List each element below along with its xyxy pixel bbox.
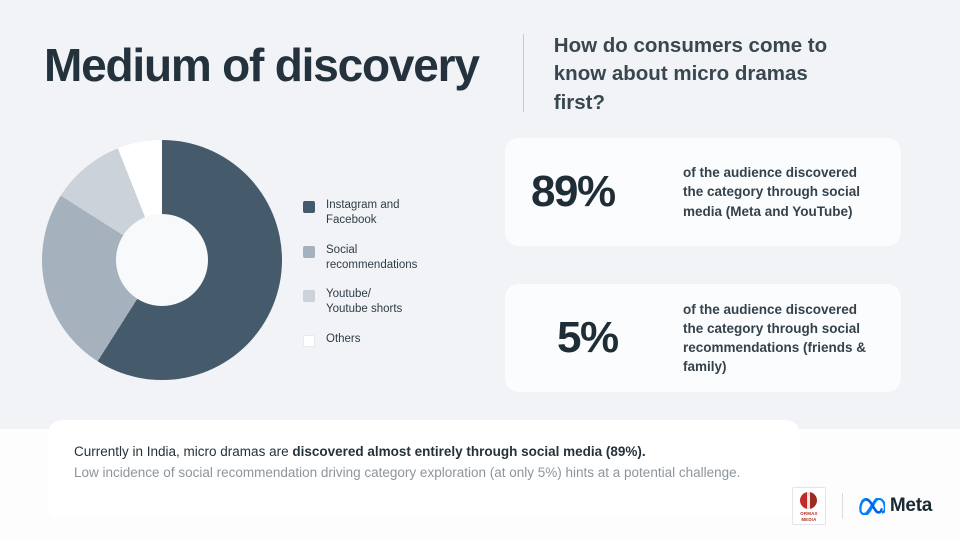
header: Medium of discovery How do consumers com… xyxy=(44,28,920,120)
legend-item-label: Social recommendations xyxy=(326,243,417,274)
legend-swatch-icon xyxy=(303,335,315,347)
legend-item-social-recommendations: Social recommendations xyxy=(303,243,463,274)
stat-card-social-media: 89% of the audience discovered the categ… xyxy=(505,138,901,246)
logo-divider xyxy=(842,493,843,519)
legend-item-label: Others xyxy=(326,332,361,347)
callout-body: Low incidence of social recommendation d… xyxy=(74,463,774,484)
callout-headline-prefix: Currently in India, micro dramas are xyxy=(74,444,292,459)
meta-logo: Meta xyxy=(859,495,932,517)
legend-item-others: Others xyxy=(303,332,463,347)
legend-swatch-icon xyxy=(303,290,315,302)
infographic-slide: Medium of discovery How do consumers com… xyxy=(0,0,960,539)
legend-item-label: Youtube/ Youtube shorts xyxy=(326,287,402,318)
stat-value: 5% xyxy=(531,316,683,360)
stat-description: of the audience discovered the category … xyxy=(683,163,875,220)
insight-callout: Currently in India, micro dramas are dis… xyxy=(48,420,800,518)
legend-swatch-icon xyxy=(303,246,315,258)
callout-headline: Currently in India, micro dramas are dis… xyxy=(74,442,774,463)
discovery-donut-chart xyxy=(42,140,282,380)
stat-description: of the audience discovered the category … xyxy=(683,300,875,377)
legend-swatch-icon xyxy=(303,201,315,213)
legend-item-label: Instagram and Facebook xyxy=(326,198,400,229)
chart-legend: Instagram and Facebook Social recommenda… xyxy=(303,198,463,361)
logo-bar: ORMAXMEDIA Meta xyxy=(792,487,932,525)
legend-item-instagram-facebook: Instagram and Facebook xyxy=(303,198,463,229)
callout-headline-bold: discovered almost entirely through socia… xyxy=(292,444,645,459)
ormax-logo-text: ORMAXMEDIA xyxy=(800,511,817,522)
header-subtitle: How do consumers come to know about micr… xyxy=(554,32,854,117)
stat-value: 89% xyxy=(531,170,683,214)
meta-wordmark: Meta xyxy=(890,495,932,517)
stat-card-social-recommendations: 5% of the audience discovered the catego… xyxy=(505,284,901,392)
donut-center-hole xyxy=(116,214,208,306)
ormax-circle-icon xyxy=(800,492,817,509)
title-divider xyxy=(523,34,524,112)
ormax-media-logo: ORMAXMEDIA xyxy=(792,487,826,525)
page-title: Medium of discovery xyxy=(44,38,479,92)
meta-infinity-icon xyxy=(859,498,885,515)
legend-item-youtube: Youtube/ Youtube shorts xyxy=(303,287,463,318)
